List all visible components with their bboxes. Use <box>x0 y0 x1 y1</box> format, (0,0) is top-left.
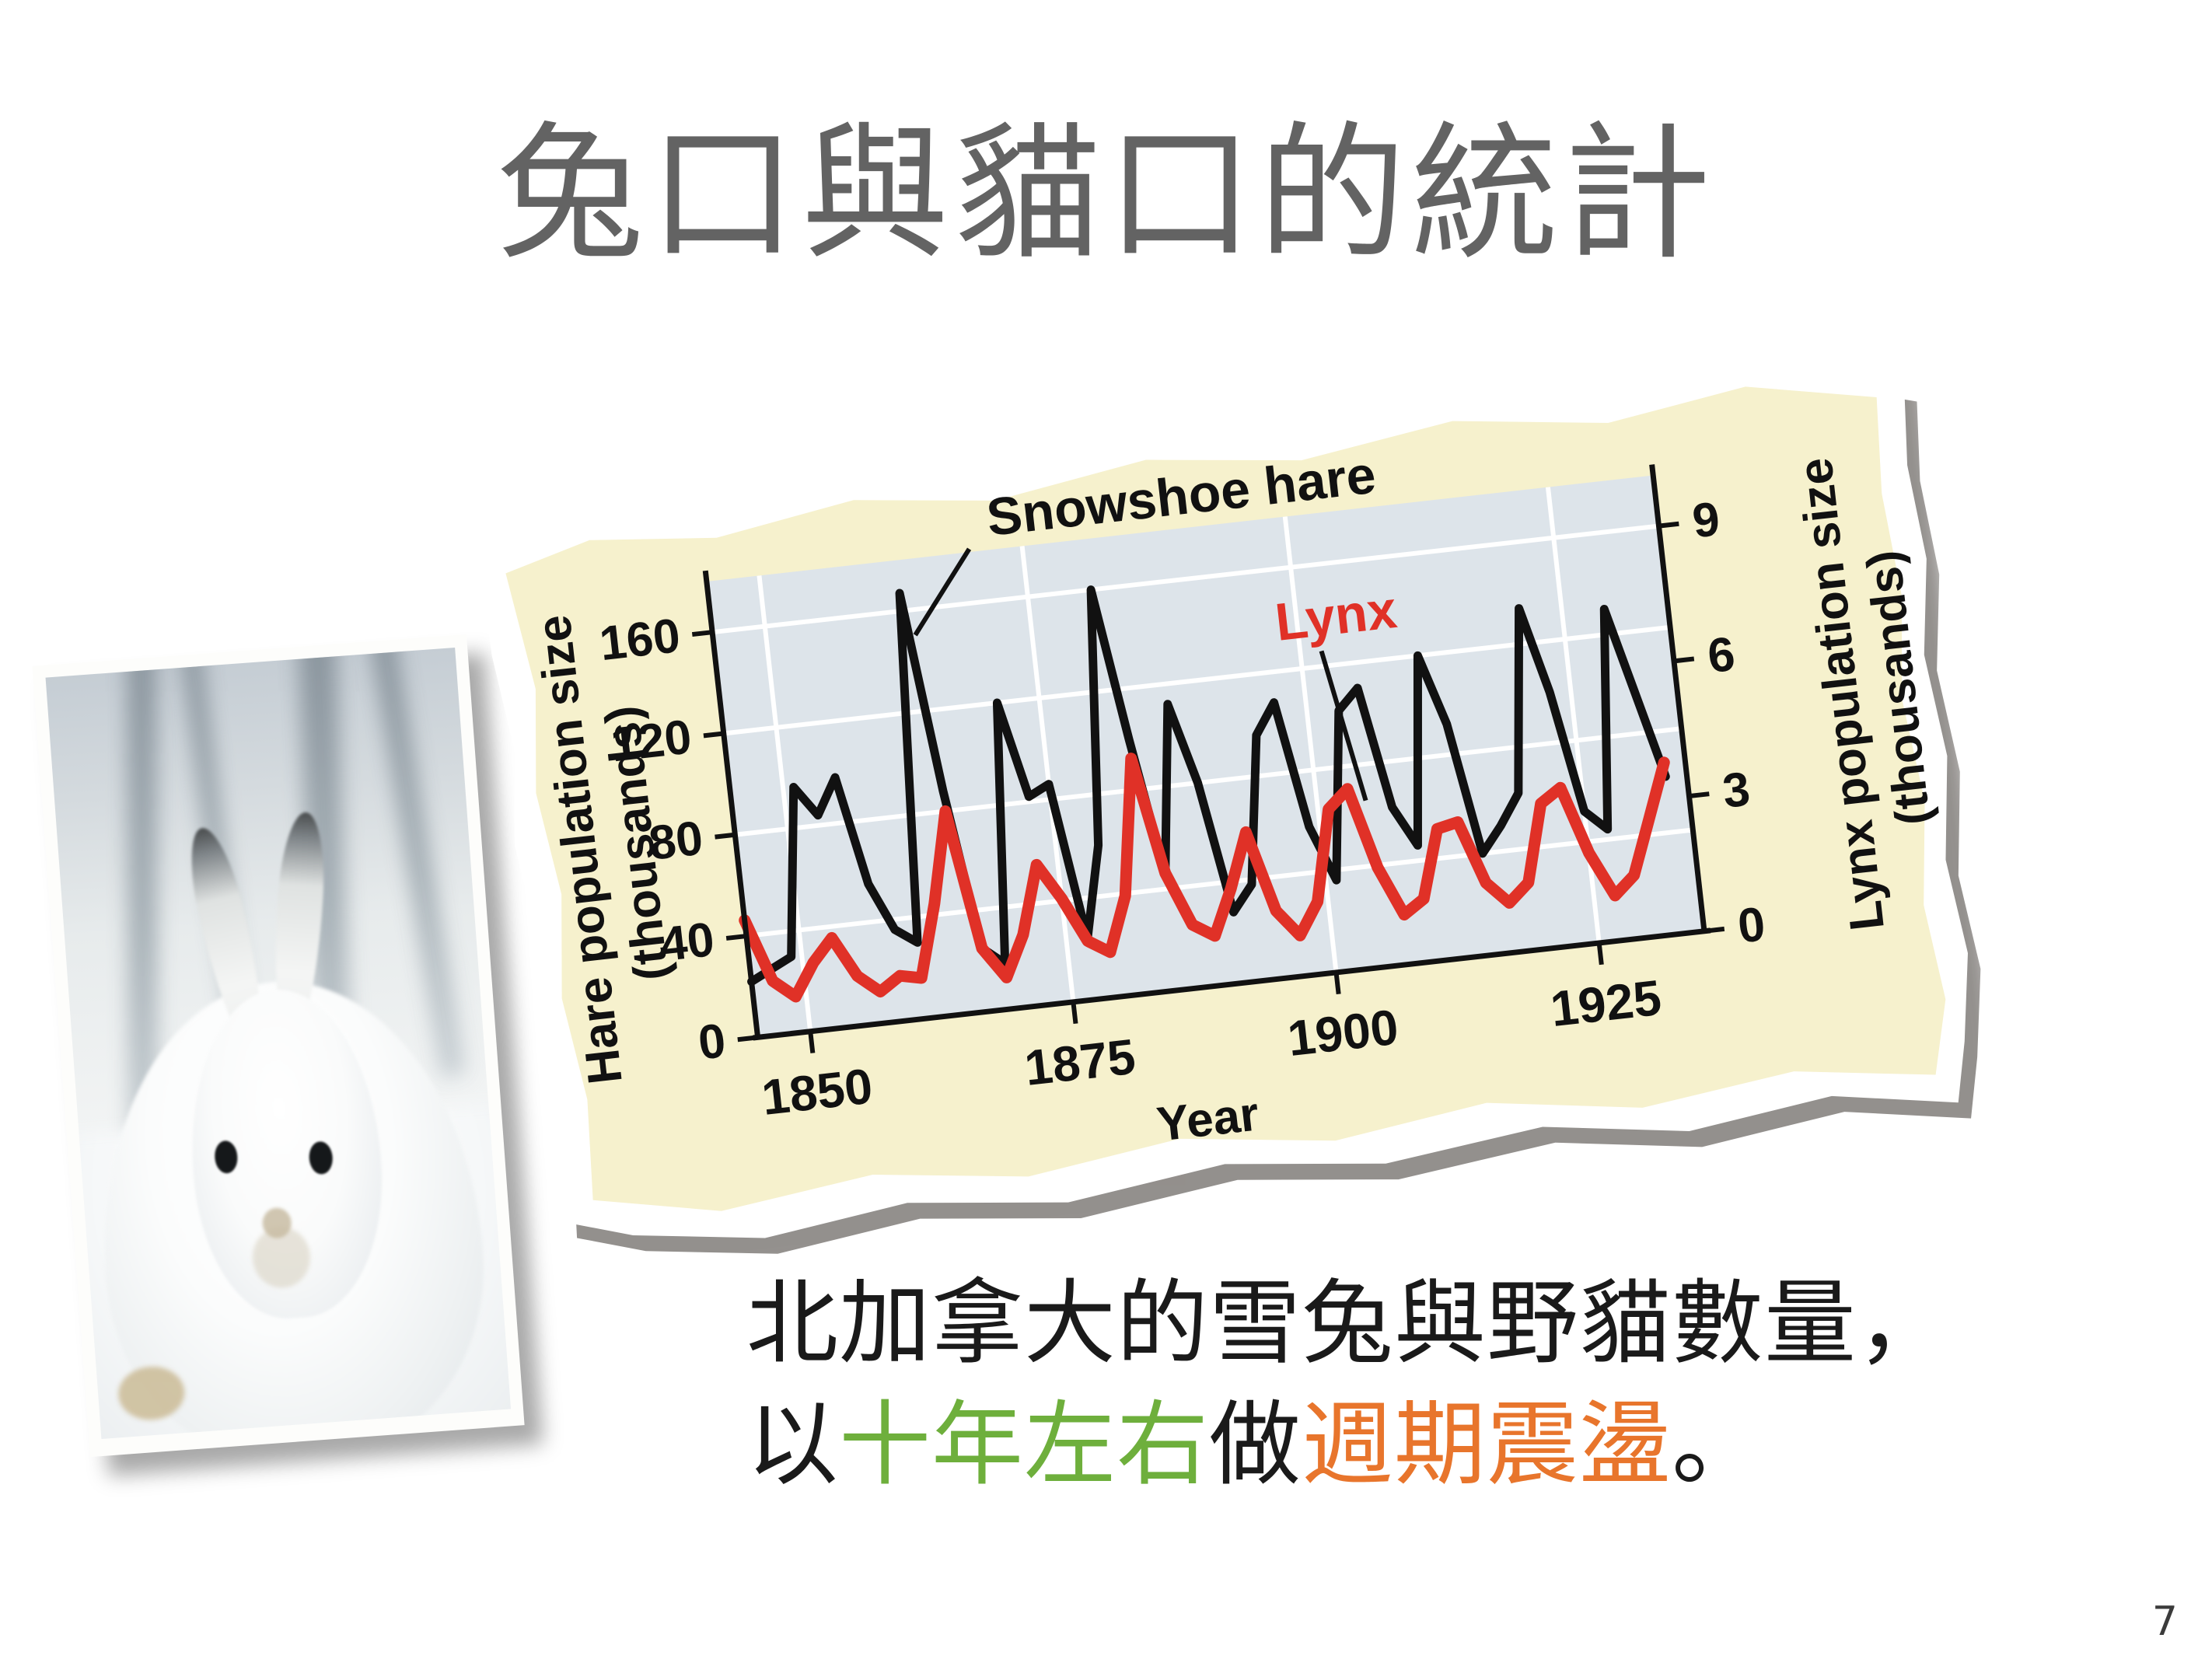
slide-root: 兔口與貓口的統計 04080 <box>0 0 2212 1659</box>
tick-left-axis <box>704 733 724 735</box>
tick-left-axis <box>692 632 712 634</box>
axis-title-right: Lynx population size(thousands) <box>1788 449 1952 933</box>
tick-right-axis <box>1659 524 1679 526</box>
population-chart-clipping: 0408012016003691850187519001925YearHare … <box>462 330 1995 1280</box>
page-number: 7 <box>2152 1598 2178 1645</box>
tick-x-axis <box>1599 943 1602 965</box>
photo-image <box>46 648 512 1439</box>
tick-x-axis <box>1337 973 1339 994</box>
tick-left-axis <box>715 835 736 837</box>
tick-x-axis <box>810 1032 812 1053</box>
tick-right-axis <box>1704 929 1725 931</box>
hare-lynx-population-chart: 0408012016003691850187519001925YearHare … <box>462 330 1995 1280</box>
caption-line-2: 以十年左右做週期震盪。 <box>746 1385 2053 1506</box>
tick-label-x-axis: 1875 <box>1022 1029 1138 1096</box>
tick-left-axis <box>726 936 746 938</box>
tick-label-right-axis: 3 <box>1720 763 1752 819</box>
slide-caption: 北加拿大的雪兔與野貓數量， 以十年左右做週期震盪。 <box>746 1263 2053 1506</box>
page-title: 兔口與貓口的統計 <box>0 117 2212 272</box>
caption-line-1: 北加拿大的雪兔與野貓數量， <box>746 1263 2053 1385</box>
tick-right-axis <box>1674 658 1694 661</box>
snowshoe-hare-photo <box>32 634 524 1457</box>
caption-text-period: 。 <box>1672 1391 1764 1498</box>
tick-right-axis <box>1689 794 1709 796</box>
tick-label-x-axis: 1850 <box>759 1058 875 1126</box>
photo-frame <box>32 634 524 1457</box>
tick-left-axis <box>738 1037 758 1039</box>
tick-x-axis <box>1073 1002 1075 1024</box>
tick-label-right-axis: 0 <box>1735 897 1768 953</box>
tick-label-right-axis: 6 <box>1705 627 1738 683</box>
caption-text-plain-1: 以 <box>746 1391 839 1498</box>
caption-highlight-cycle: 週期震盪 <box>1302 1391 1672 1498</box>
tick-label-right-axis: 9 <box>1690 492 1722 548</box>
caption-highlight-decade: 十年左右 <box>839 1391 1209 1498</box>
tick-label-left-axis: 160 <box>597 609 683 671</box>
tick-label-x-axis: 1900 <box>1284 999 1401 1067</box>
background-tree-icon <box>368 648 465 1077</box>
tick-label-left-axis: 0 <box>696 1014 729 1070</box>
caption-text-plain-2: 做 <box>1209 1391 1302 1498</box>
tick-label-x-axis: 1925 <box>1548 969 1665 1037</box>
axis-title-x: Year <box>1155 1087 1262 1151</box>
